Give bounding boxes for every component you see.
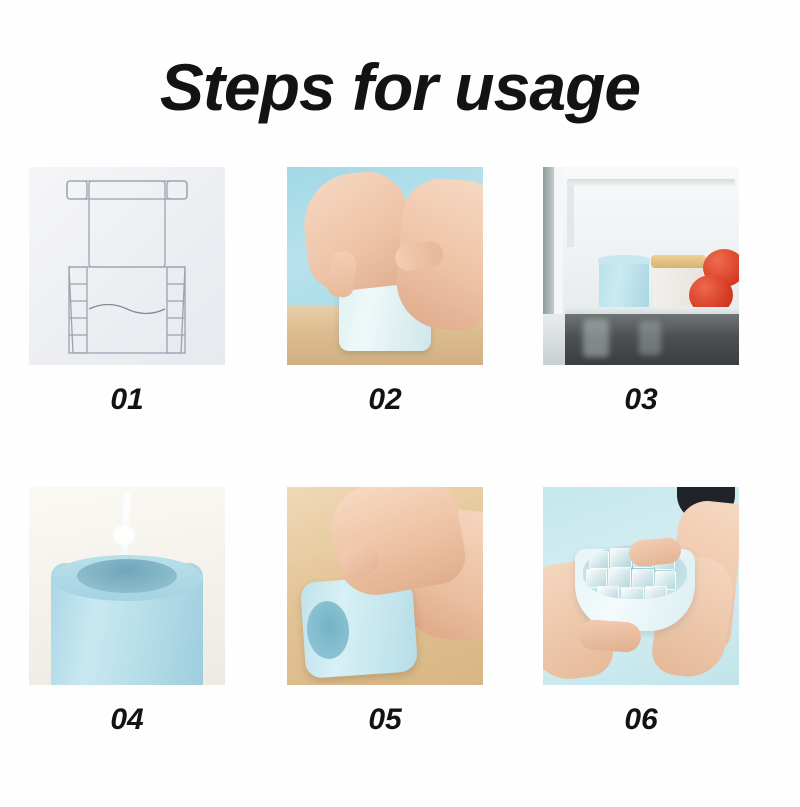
fridge-shelf-image bbox=[543, 167, 739, 365]
step-label-02: 02 bbox=[287, 385, 483, 415]
fridge-upper-shelf bbox=[567, 179, 735, 186]
ice-cube bbox=[589, 551, 609, 569]
water-splash bbox=[113, 525, 135, 545]
step-item-01[interactable]: 01 bbox=[29, 167, 225, 415]
fridge-rail bbox=[567, 185, 574, 247]
step-label-01: 01 bbox=[29, 385, 225, 415]
step-item-02[interactable]: 02 bbox=[287, 167, 483, 415]
step-item-05[interactable]: 05 bbox=[287, 487, 483, 735]
ice-cube bbox=[597, 586, 619, 599]
step-item-03[interactable]: 03 bbox=[543, 167, 739, 415]
fridge-door-edge bbox=[543, 167, 554, 314]
page-title: Steps for usage bbox=[0, 54, 800, 120]
mold-line-drawing-image bbox=[29, 167, 225, 365]
ice-cup-body bbox=[599, 257, 649, 309]
steps-row-top: 01 02 bbox=[0, 167, 800, 487]
steps-grid: 01 02 bbox=[0, 167, 800, 807]
step-label-05: 05 bbox=[287, 705, 483, 735]
tan-container-lid bbox=[651, 255, 706, 268]
step-item-06[interactable]: 06 bbox=[543, 487, 739, 735]
ice-cubes-result-image bbox=[543, 487, 739, 685]
blurred-item-right bbox=[639, 321, 661, 355]
ice-cube bbox=[645, 586, 667, 599]
step-item-04[interactable]: 04 bbox=[29, 487, 225, 735]
squeezing-mold-image bbox=[287, 487, 483, 685]
ice-cube bbox=[621, 587, 644, 599]
ice-cup-lid bbox=[598, 255, 650, 264]
ice-cup-opening bbox=[77, 559, 177, 593]
step-label-03: 03 bbox=[543, 385, 739, 415]
finger-bottom bbox=[578, 619, 642, 653]
fridge-door-gap bbox=[554, 167, 563, 314]
fridge-lower-door bbox=[543, 314, 565, 365]
blurred-item-left bbox=[583, 319, 609, 357]
hands-closing-lid-image bbox=[287, 167, 483, 365]
steps-row-bottom: 04 05 bbox=[0, 487, 800, 807]
step-label-04: 04 bbox=[29, 705, 225, 735]
step-label-06: 06 bbox=[543, 705, 739, 735]
pouring-water-image bbox=[29, 487, 225, 685]
